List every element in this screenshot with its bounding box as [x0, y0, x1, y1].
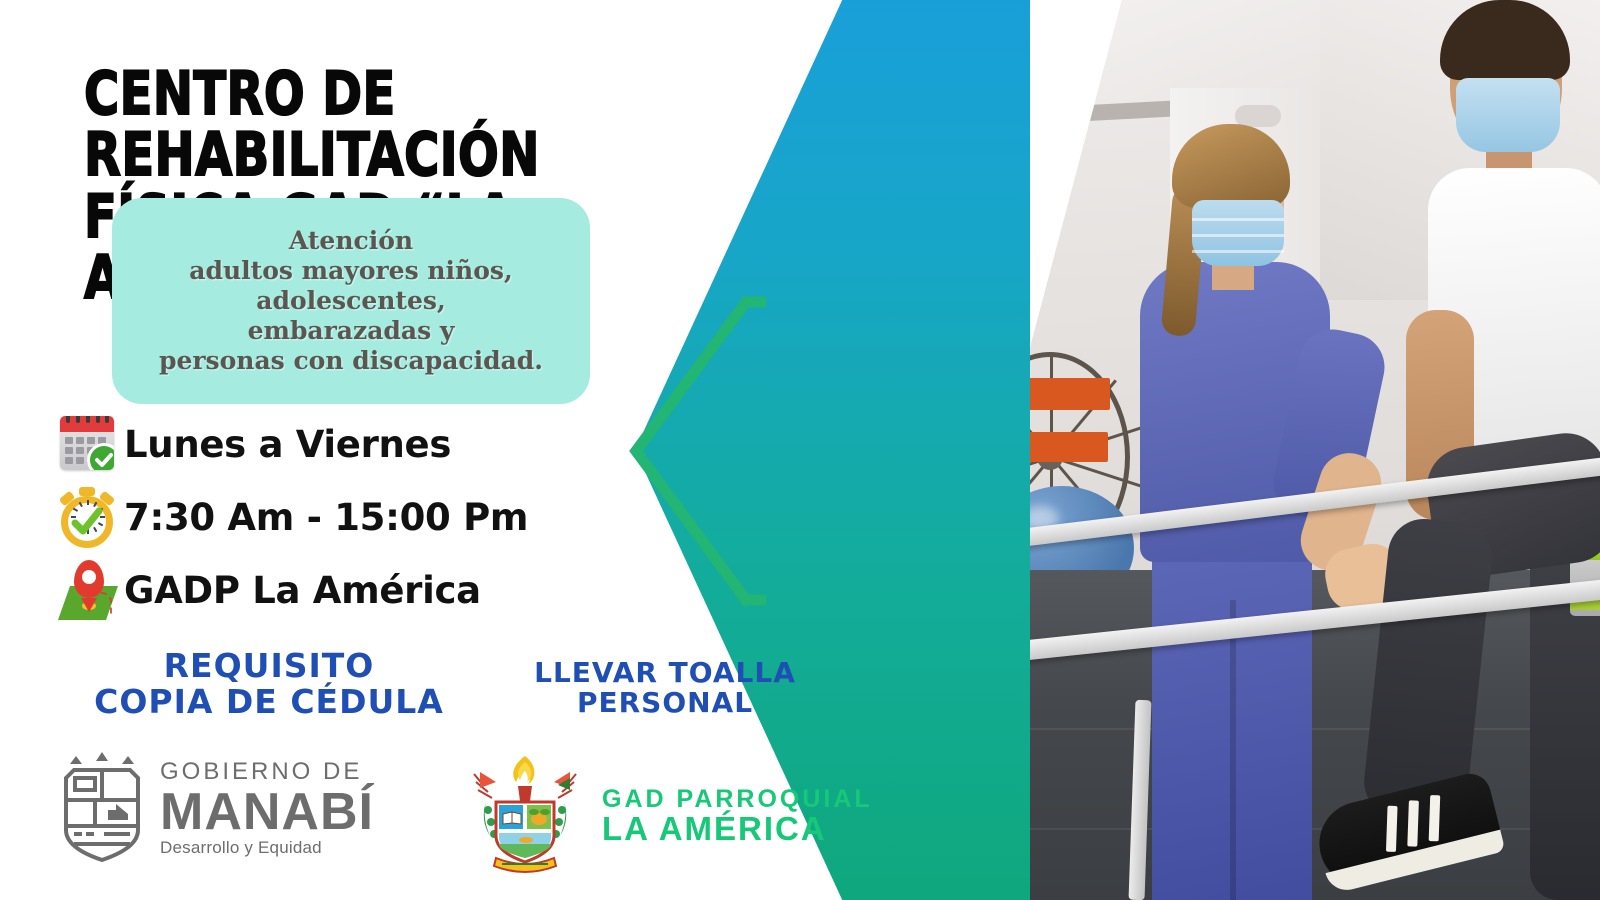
audience-line-1: Atención — [159, 226, 543, 256]
manabi-wordmark: GOBIERNO DE MANABÍ Desarrollo y Equidad — [160, 760, 374, 856]
info-row-days: Lunes a Viernes — [46, 408, 606, 480]
title-line-1: CENTRO DE REHABILITACIÓN — [84, 59, 540, 190]
patient-face-mask-icon — [1456, 78, 1560, 152]
info-row-hours: 7:30 Am - 15:00 Pm — [46, 481, 606, 553]
info-row-location: GADP La América — [46, 554, 606, 626]
manabi-tagline: Desarrollo y Equidad — [160, 839, 374, 856]
towel-note-line-2: PERSONAL — [500, 688, 830, 718]
map-pin-icon — [46, 554, 124, 626]
info-label-hours: 7:30 Am - 15:00 Pm — [124, 496, 528, 539]
audience-callout-box: Atención adultos mayores niños, adolesce… — [112, 198, 590, 404]
calendar-check-icon — [46, 408, 124, 480]
manabi-shield-icon — [58, 752, 146, 864]
audience-line-4: embarazadas y — [159, 316, 543, 346]
poster-canvas: CENTRO DE REHABILITACIÓN FÍSICA GAD “LA … — [0, 0, 1600, 900]
info-label-location: GADP La América — [124, 569, 481, 612]
audience-line-3: adolescentes, — [159, 286, 543, 316]
info-list: Lunes a Viernes — [46, 408, 606, 627]
audience-callout-text: Atención adultos mayores niños, adolesce… — [151, 226, 551, 376]
audience-line-5: personas con discapacidad. — [159, 346, 543, 376]
logo-gobierno-manabi: GOBIERNO DE MANABÍ Desarrollo y Equidad — [58, 752, 374, 864]
gad-line-1: GAD PARROQUIAL — [602, 786, 873, 812]
chevron-outline-decor — [616, 296, 766, 606]
therapist-face-mask-icon — [1192, 200, 1284, 266]
la-america-coat-of-arms-icon — [466, 752, 584, 880]
towel-note-line-1: LLEVAR TOALLA — [500, 658, 830, 688]
audience-line-2: adultos mayores niños, — [159, 256, 543, 286]
therapist-trouser-seam — [1230, 600, 1236, 900]
requirement-note-line-1: REQUISITO — [74, 648, 464, 684]
info-label-days: Lunes a Viernes — [124, 423, 451, 466]
manabi-line-2: MANABÍ — [160, 786, 374, 838]
gad-line-2: LA AMÉRICA — [602, 812, 873, 846]
manabi-line-1: GOBIERNO DE — [160, 760, 374, 784]
towel-note: LLEVAR TOALLA PERSONAL — [500, 658, 830, 718]
requirement-note: REQUISITO COPIA DE CÉDULA — [74, 648, 464, 719]
requirement-note-line-2: COPIA DE CÉDULA — [74, 684, 464, 720]
gad-wordmark: GAD PARROQUIAL LA AMÉRICA — [602, 786, 873, 846]
stopwatch-check-icon — [46, 481, 124, 553]
logo-gad-parroquial: GAD PARROQUIAL LA AMÉRICA — [466, 752, 873, 880]
